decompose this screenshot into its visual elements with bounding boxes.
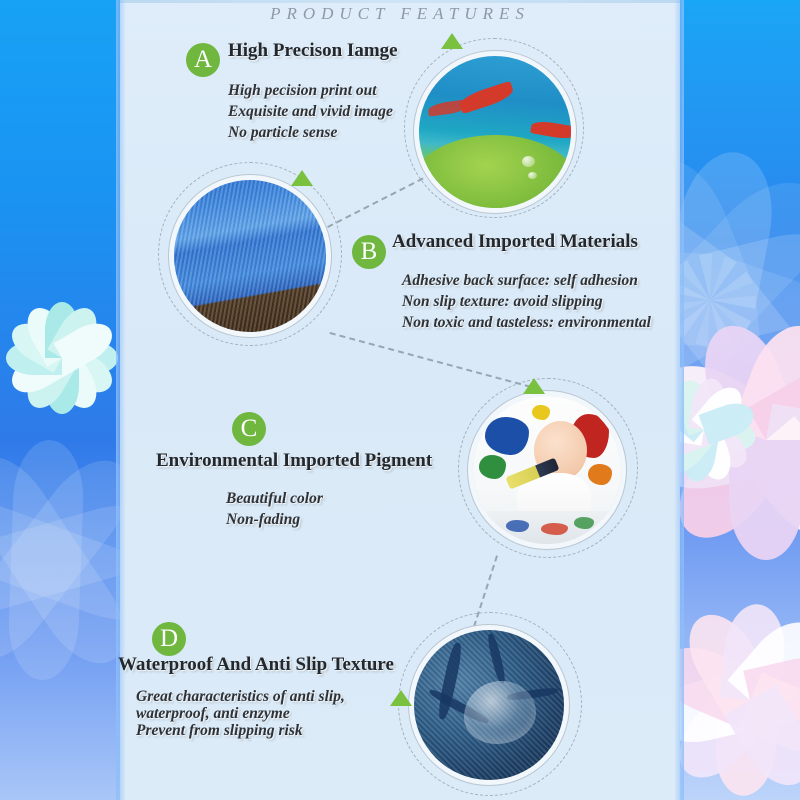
blue-fabric-texture-photo [174, 180, 326, 332]
feature-line-c-2: Non-fading [226, 509, 300, 530]
arrow-up-icon-a [441, 33, 463, 49]
right-decorative-strip [680, 0, 800, 800]
badge-d: D [152, 622, 186, 656]
feature-heading-b: Advanced Imported Materials [392, 231, 638, 253]
feature-heading-c: Environmental Imported Pigment [156, 450, 432, 472]
feature-line-b-3: Non toxic and tasteless: environmental [402, 312, 651, 333]
painting-baby-photo [473, 396, 621, 544]
feature-line-b-2: Non slip texture: avoid slipping [402, 291, 603, 312]
left-edge-fade [116, 0, 126, 800]
feature-line-a-1: High pecision print out [228, 80, 377, 101]
waterproof-droplet-texture-photo [414, 630, 564, 780]
badge-a: A [186, 43, 220, 77]
panel-top-divider [120, 0, 680, 3]
koi-fish-lily-pad-photo [419, 56, 571, 208]
arrow-up-icon-c [523, 378, 545, 394]
badge-c: C [232, 412, 266, 446]
feature-line-c-1: Beautiful color [226, 488, 323, 509]
feature-line-a-3: No particle sense [228, 122, 337, 143]
feature-heading-d: Waterproof And Anti Slip Texture [118, 654, 394, 676]
right-edge-fade [674, 0, 684, 800]
arrow-up-icon-b [291, 170, 313, 186]
product-features-page: PRODUCT FEATURES A High Precison Iamge H… [0, 0, 800, 800]
badge-b: B [352, 235, 386, 269]
left-decorative-strip [0, 0, 120, 800]
feature-line-d-3: Prevent from slipping risk [136, 720, 303, 741]
feature-line-b-1: Adhesive back surface: self adhesion [402, 270, 638, 291]
feature-heading-a: High Precison Iamge [228, 40, 398, 62]
arrow-up-icon-d [390, 690, 412, 706]
page-title: PRODUCT FEATURES [0, 4, 800, 24]
feature-line-a-2: Exquisite and vivid image [228, 101, 393, 122]
